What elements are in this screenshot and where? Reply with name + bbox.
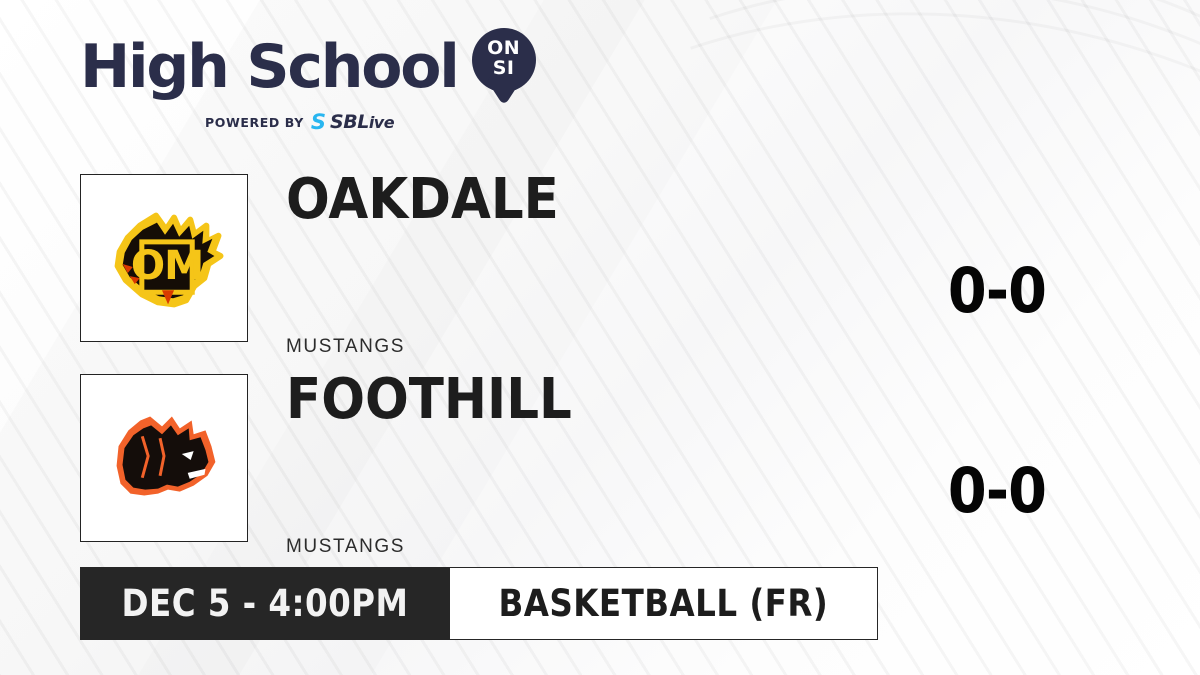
pin-label-line2: SI — [472, 58, 536, 78]
brand-header: High School ON SI POWERED BY S SBLive — [80, 28, 536, 134]
brand-title: High School — [80, 39, 458, 96]
foothill-mustangs-logo — [80, 374, 248, 542]
powered-by-label: POWERED BY — [205, 115, 304, 130]
on-si-pin-icon: ON SI — [472, 28, 536, 106]
game-datetime-chip: DEC 5 - 4:00PM — [80, 567, 450, 640]
svg-text:OM: OM — [131, 242, 203, 289]
team-score: 0-0 — [948, 460, 1046, 522]
game-sport-chip: BASKETBALL (FR) — [450, 567, 878, 640]
sblive-s-icon: S — [311, 110, 323, 134]
sblive-wordmark-upper: SBL — [330, 111, 369, 133]
sblive-wordmark: SBLive — [330, 111, 394, 133]
sblive-wordmark-lower: ive — [369, 113, 394, 132]
game-info-bar: DEC 5 - 4:00PM BASKETBALL (FR) — [80, 567, 878, 640]
team-score: 0-0 — [948, 260, 1046, 322]
team-mascot: MUSTANGS — [286, 336, 405, 358]
brand-row: High School ON SI — [80, 28, 536, 106]
oakdale-mustangs-logo: OM — [80, 174, 248, 342]
game-sport: BASKETBALL (FR) — [498, 582, 828, 625]
team-name: FOOTHILL — [286, 372, 572, 428]
game-datetime: DEC 5 - 4:00PM — [122, 582, 409, 625]
team-mascot: MUSTANGS — [286, 536, 405, 558]
pin-label-line1: ON — [472, 39, 536, 58]
matchup-graphic: High School ON SI POWERED BY S SBLive — [0, 0, 1200, 675]
powered-by-row: POWERED BY S SBLive — [205, 110, 536, 134]
team-name: OAKDALE — [286, 172, 559, 228]
pin-label: ON SI — [472, 39, 536, 78]
